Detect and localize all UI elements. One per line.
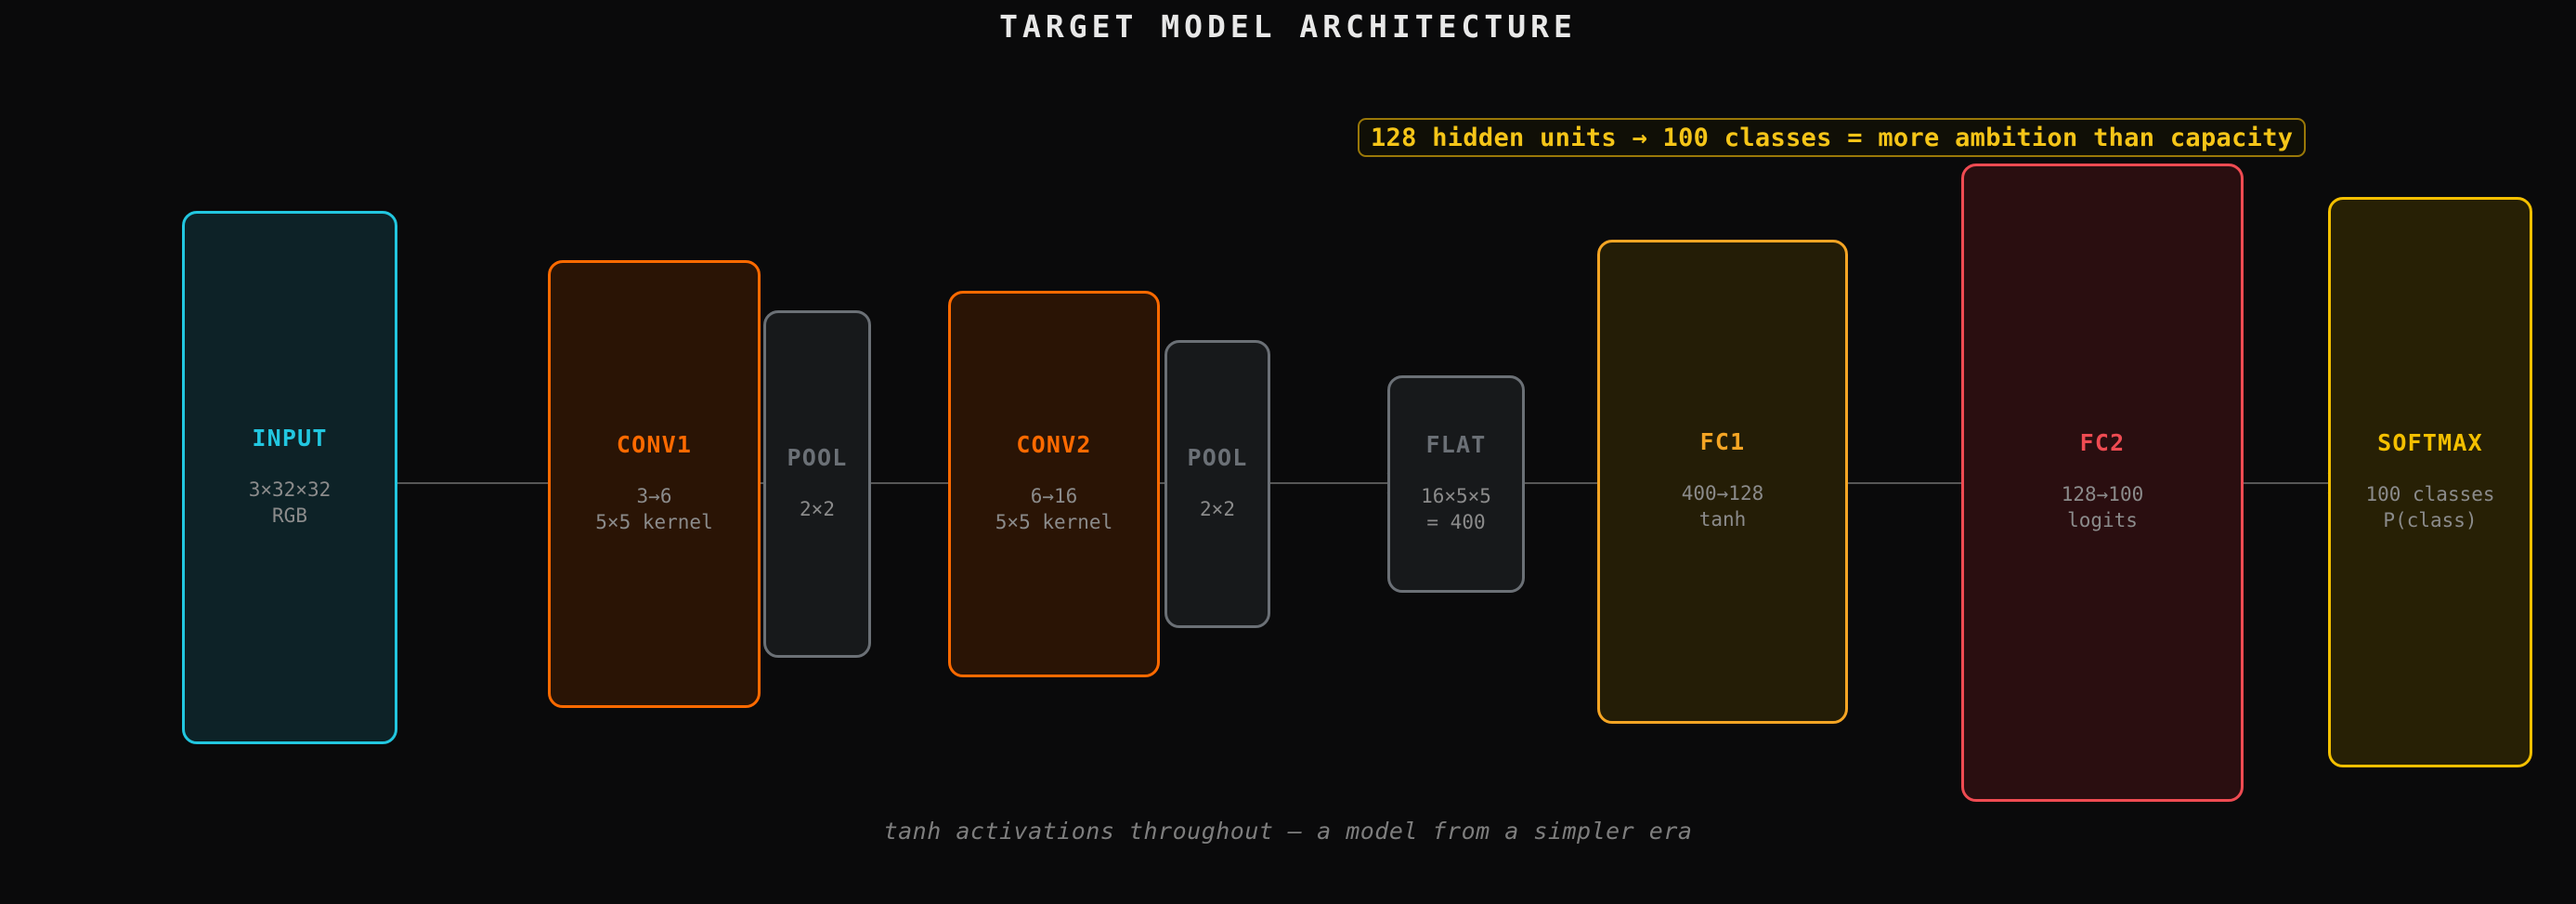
arrow-shaft [2231,482,2331,484]
layer-detail-secondary-softmax: P(class) [2331,508,2530,534]
layer-detail-primary-conv2: 6→16 [951,484,1157,510]
layer-detail-primary-fc2: 128→100 [1964,482,2241,508]
layer-label-input: INPUT [185,426,395,450]
layer-detail-primary-input: 3×32×32 [185,478,395,504]
arrow-shaft [384,482,552,484]
layer-content: POOL2×2 [1167,446,1268,523]
layer-label-pool1: POOL [766,446,868,469]
connector-arrow-input-to-conv1 [384,474,561,492]
layer-content: FC2128→100logits [1964,431,2241,533]
layer-detail-secondary-flat: = 400 [1390,510,1522,536]
layer-content: SOFTMAX100 classesP(class) [2331,431,2530,533]
layer-label-conv1: CONV1 [551,433,758,456]
layer-detail-primary-softmax: 100 classes [2331,482,2530,508]
annotation-banner-text: 128 hidden units → 100 classes = more am… [1371,124,2293,152]
layer-content: POOL2×2 [766,446,868,523]
layer-detail-secondary-conv2: 5×5 kernel [951,510,1157,536]
layer-detail-secondary-fc2: logits [1964,508,2241,534]
layer-box-input[interactable]: INPUT3×32×32RGB [182,211,397,744]
layer-detail-secondary-input: RGB [185,504,395,530]
arrow-shaft [859,482,952,484]
layer-detail-primary-pool2: 2×2 [1167,497,1268,523]
layer-detail-secondary-fc1: tanh [1600,507,1845,533]
page-title: TARGET MODEL ARCHITECTURE [0,8,2576,45]
layer-box-fc1[interactable]: FC1400→128tanh [1597,240,1848,724]
layer-content: INPUT3×32×32RGB [185,426,395,529]
layer-box-fc2[interactable]: FC2128→100logits [1961,164,2244,802]
layer-box-flat[interactable]: FLAT16×5×5= 400 [1387,375,1525,593]
arrow-shaft [1836,482,1964,484]
layer-content: CONV13→65×5 kernel [551,433,758,535]
connector-arrow-fc1-to-fc2 [1836,474,1973,492]
layer-label-conv2: CONV2 [951,433,1157,456]
layer-label-fc2: FC2 [1964,431,2241,454]
layer-label-flat: FLAT [1390,433,1522,456]
layer-box-conv1[interactable]: CONV13→65×5 kernel [548,260,761,708]
layer-box-conv2[interactable]: CONV26→165×5 kernel [948,291,1160,677]
layer-detail-primary-pool1: 2×2 [766,497,868,523]
layer-label-pool2: POOL [1167,446,1268,469]
layer-box-pool1[interactable]: POOL2×2 [763,310,871,658]
layer-detail-secondary-conv1: 5×5 kernel [551,510,758,536]
layer-content: FC1400→128tanh [1600,430,1845,532]
layer-label-fc1: FC1 [1600,430,1845,453]
layer-detail-primary-conv1: 3→6 [551,484,758,510]
layer-content: FLAT16×5×5= 400 [1390,433,1522,535]
connector-arrow-pool2-to-flat [1258,474,1399,492]
connector-arrow-fc2-to-softmax [2231,474,2340,492]
layer-detail-primary-flat: 16×5×5 [1390,484,1522,510]
layer-detail-primary-fc1: 400→128 [1600,481,1845,507]
layer-label-softmax: SOFTMAX [2331,431,2530,454]
footer-caption: tanh activations throughout — a model fr… [0,818,2576,845]
connector-arrow-flat-to-fc1 [1513,474,1609,492]
annotation-banner: 128 hidden units → 100 classes = more am… [1358,118,2306,157]
arrow-shaft [1513,482,1600,484]
connector-arrow-pool1-to-conv2 [859,474,961,492]
layer-box-pool2[interactable]: POOL2×2 [1164,340,1270,628]
diagram-canvas: TARGET MODEL ARCHITECTURE 128 hidden uni… [0,0,2576,904]
layer-content: CONV26→165×5 kernel [951,433,1157,535]
arrow-shaft [1258,482,1390,484]
layer-box-softmax[interactable]: SOFTMAX100 classesP(class) [2328,197,2532,767]
